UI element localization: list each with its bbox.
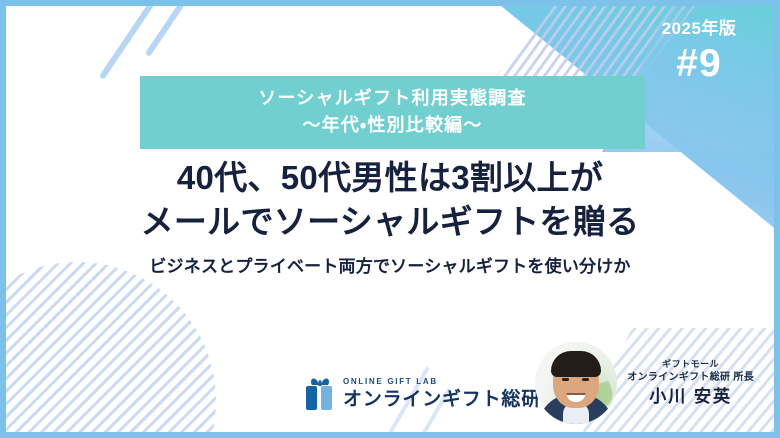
slide-footer: ONLINE GIFT LAB オンラインギフト総研 [6, 332, 774, 432]
presenter-name: 小川 安英 [627, 387, 754, 408]
presenter-title: オンラインギフト総研 所長 [627, 372, 754, 384]
gift-box-icon [306, 377, 334, 410]
avatar [535, 342, 617, 424]
avatar-eye-right [582, 378, 589, 381]
frame-border-bottom [0, 432, 780, 438]
diagonal-accent-line-1 [99, 6, 155, 80]
gift-box-left-panel [306, 386, 317, 410]
presenter-caption: ギフトモール オンラインギフト総研 所長 小川 安英 [627, 359, 760, 408]
avatar-hair [551, 351, 601, 377]
brand-name-japanese: オンラインギフト総研 [343, 390, 541, 409]
headline-block: 40代、50代男性は3割以上が メールでソーシャルギフトを贈る ビジネスとプライ… [6, 156, 774, 277]
brand-name-english: ONLINE GIFT LAB [343, 378, 541, 386]
diagonal-accent-line-2 [145, 6, 194, 57]
headline-subtitle: ビジネスとプライベート両方でソーシャルギフトを使い分けか [6, 252, 774, 277]
presenter-block: ギフトモール オンラインギフト総研 所長 小川 安英 [535, 342, 760, 424]
presenter-organization: ギフトモール [627, 359, 754, 370]
version-badge: 2025年版 #9 [640, 20, 758, 83]
version-number-label: #9 [640, 44, 758, 83]
survey-title-line-2: 〜年代・性別比較編〜 [140, 112, 645, 139]
gift-box-right-panel [321, 386, 332, 410]
headline-line-2: メールでソーシャルギフトを贈る [6, 200, 774, 244]
brand-logo-text: ONLINE GIFT LAB オンラインギフト総研 [343, 378, 541, 409]
survey-title-line-1: ソーシャルギフト利用実態調査 [140, 85, 645, 112]
avatar-eye-left [562, 378, 569, 381]
headline-line-1: 40代、50代男性は3割以上が [6, 156, 774, 200]
brand-logo: ONLINE GIFT LAB オンラインギフト総研 [306, 377, 541, 410]
frame-border-right [774, 0, 780, 438]
version-year-label: 2025年版 [640, 20, 758, 37]
gift-bow-icon [310, 377, 330, 386]
presentation-slide: 2025年版 #9 ソーシャルギフト利用実態調査 〜年代・性別比較編〜 40代、… [0, 0, 780, 438]
survey-title-banner: ソーシャルギフト利用実態調査 〜年代・性別比較編〜 [140, 76, 645, 149]
slide-canvas: 2025年版 #9 ソーシャルギフト利用実態調査 〜年代・性別比較編〜 40代、… [6, 6, 774, 432]
